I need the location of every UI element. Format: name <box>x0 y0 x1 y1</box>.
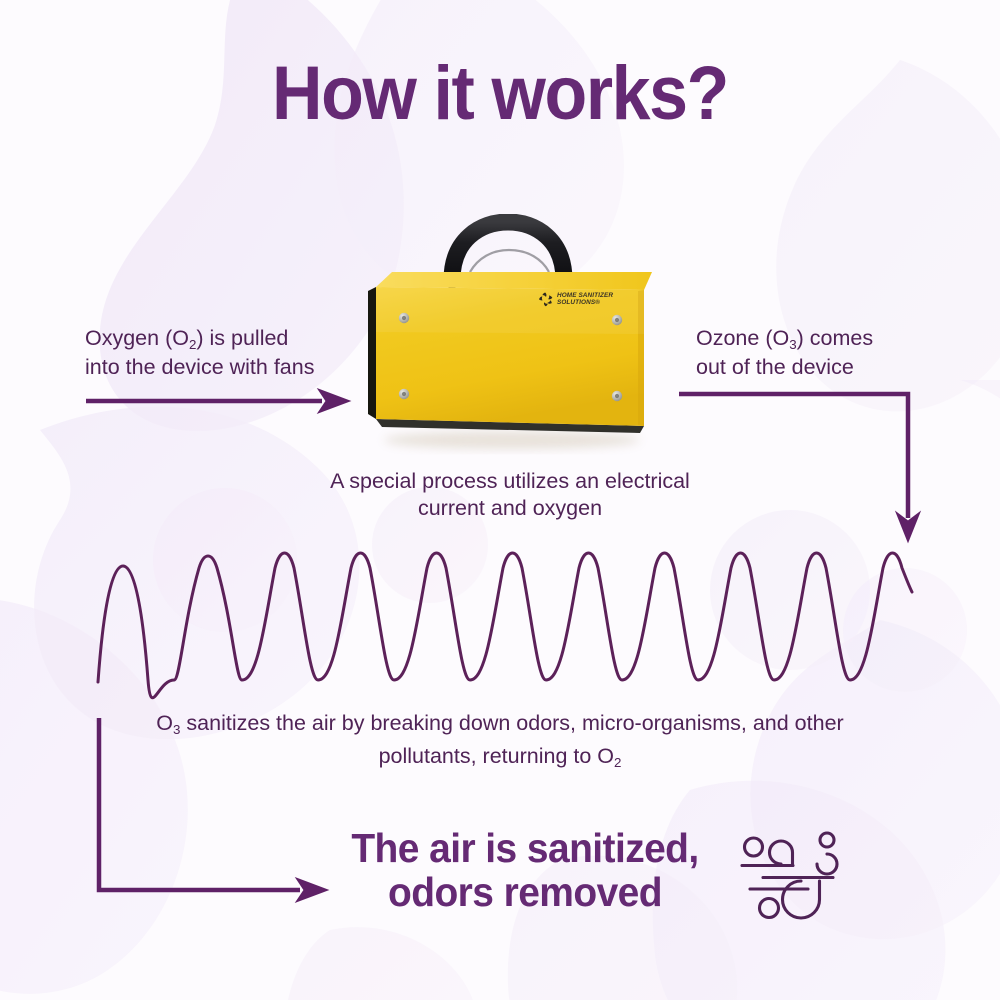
caption-ozone-sanitizes: O3 sanitizes the air by breaking down od… <box>130 708 870 774</box>
callout-right-line1-a: Ozone (O <box>696 326 789 350</box>
caption-wave-b: sanitizes the air by breaking down odors… <box>180 711 843 768</box>
callout-left-subscript: 2 <box>189 337 196 352</box>
device-illustration <box>352 214 664 460</box>
callout-oxygen-in: Oxygen (O2) is pulled into the device wi… <box>85 325 355 381</box>
wave-curve <box>98 553 912 698</box>
callout-ozone-out: Ozone (O3) comes out of the device <box>696 325 956 381</box>
device-logo-text: HOME SANITIZERSOLUTIONS® <box>557 292 613 307</box>
pinwheel-logo-icon <box>537 291 554 308</box>
device-handle <box>452 222 564 280</box>
callout-left-line1-a: Oxygen (O <box>85 326 189 350</box>
callout-left-line2: into the device with fans <box>85 355 314 379</box>
caption-device-line2: current and oxygen <box>418 496 602 520</box>
caption-wave-sub-2: 2 <box>614 755 621 770</box>
callout-right-line2: out of the device <box>696 355 854 379</box>
caption-wave-a: O <box>156 711 173 735</box>
infographic-canvas: How it works? <box>0 0 1000 1000</box>
callout-right-line1-b: ) comes <box>797 326 873 350</box>
caption-device-process: A special process utilizes an electrical… <box>280 468 740 522</box>
page-title: How it works? <box>40 56 960 132</box>
caption-wave-sub-3: 3 <box>173 722 180 737</box>
device-side-panel <box>368 287 376 419</box>
callout-left-line1-b: ) is pulled <box>196 326 288 350</box>
device-shadow <box>384 431 640 449</box>
headline-line2: odors removed <box>388 869 662 915</box>
arrow-right-icon <box>86 389 350 413</box>
home-sanitizer-device: HOME SANITIZERSOLUTIONS® <box>352 214 664 460</box>
device-logo-line2: SOLUTIONS® <box>557 299 600 306</box>
device-brand-logo: HOME SANITIZERSOLUTIONS® <box>537 288 633 310</box>
caption-device-line1: A special process utilizes an electrical <box>330 469 690 493</box>
headline-result: The air is sanitized, odors removed <box>340 826 711 914</box>
callout-right-subscript: 3 <box>789 337 796 352</box>
device-logo-line1: HOME SANITIZER <box>557 292 613 299</box>
wind-icon <box>738 824 846 924</box>
headline-line1: The air is sanitized, <box>351 825 698 871</box>
